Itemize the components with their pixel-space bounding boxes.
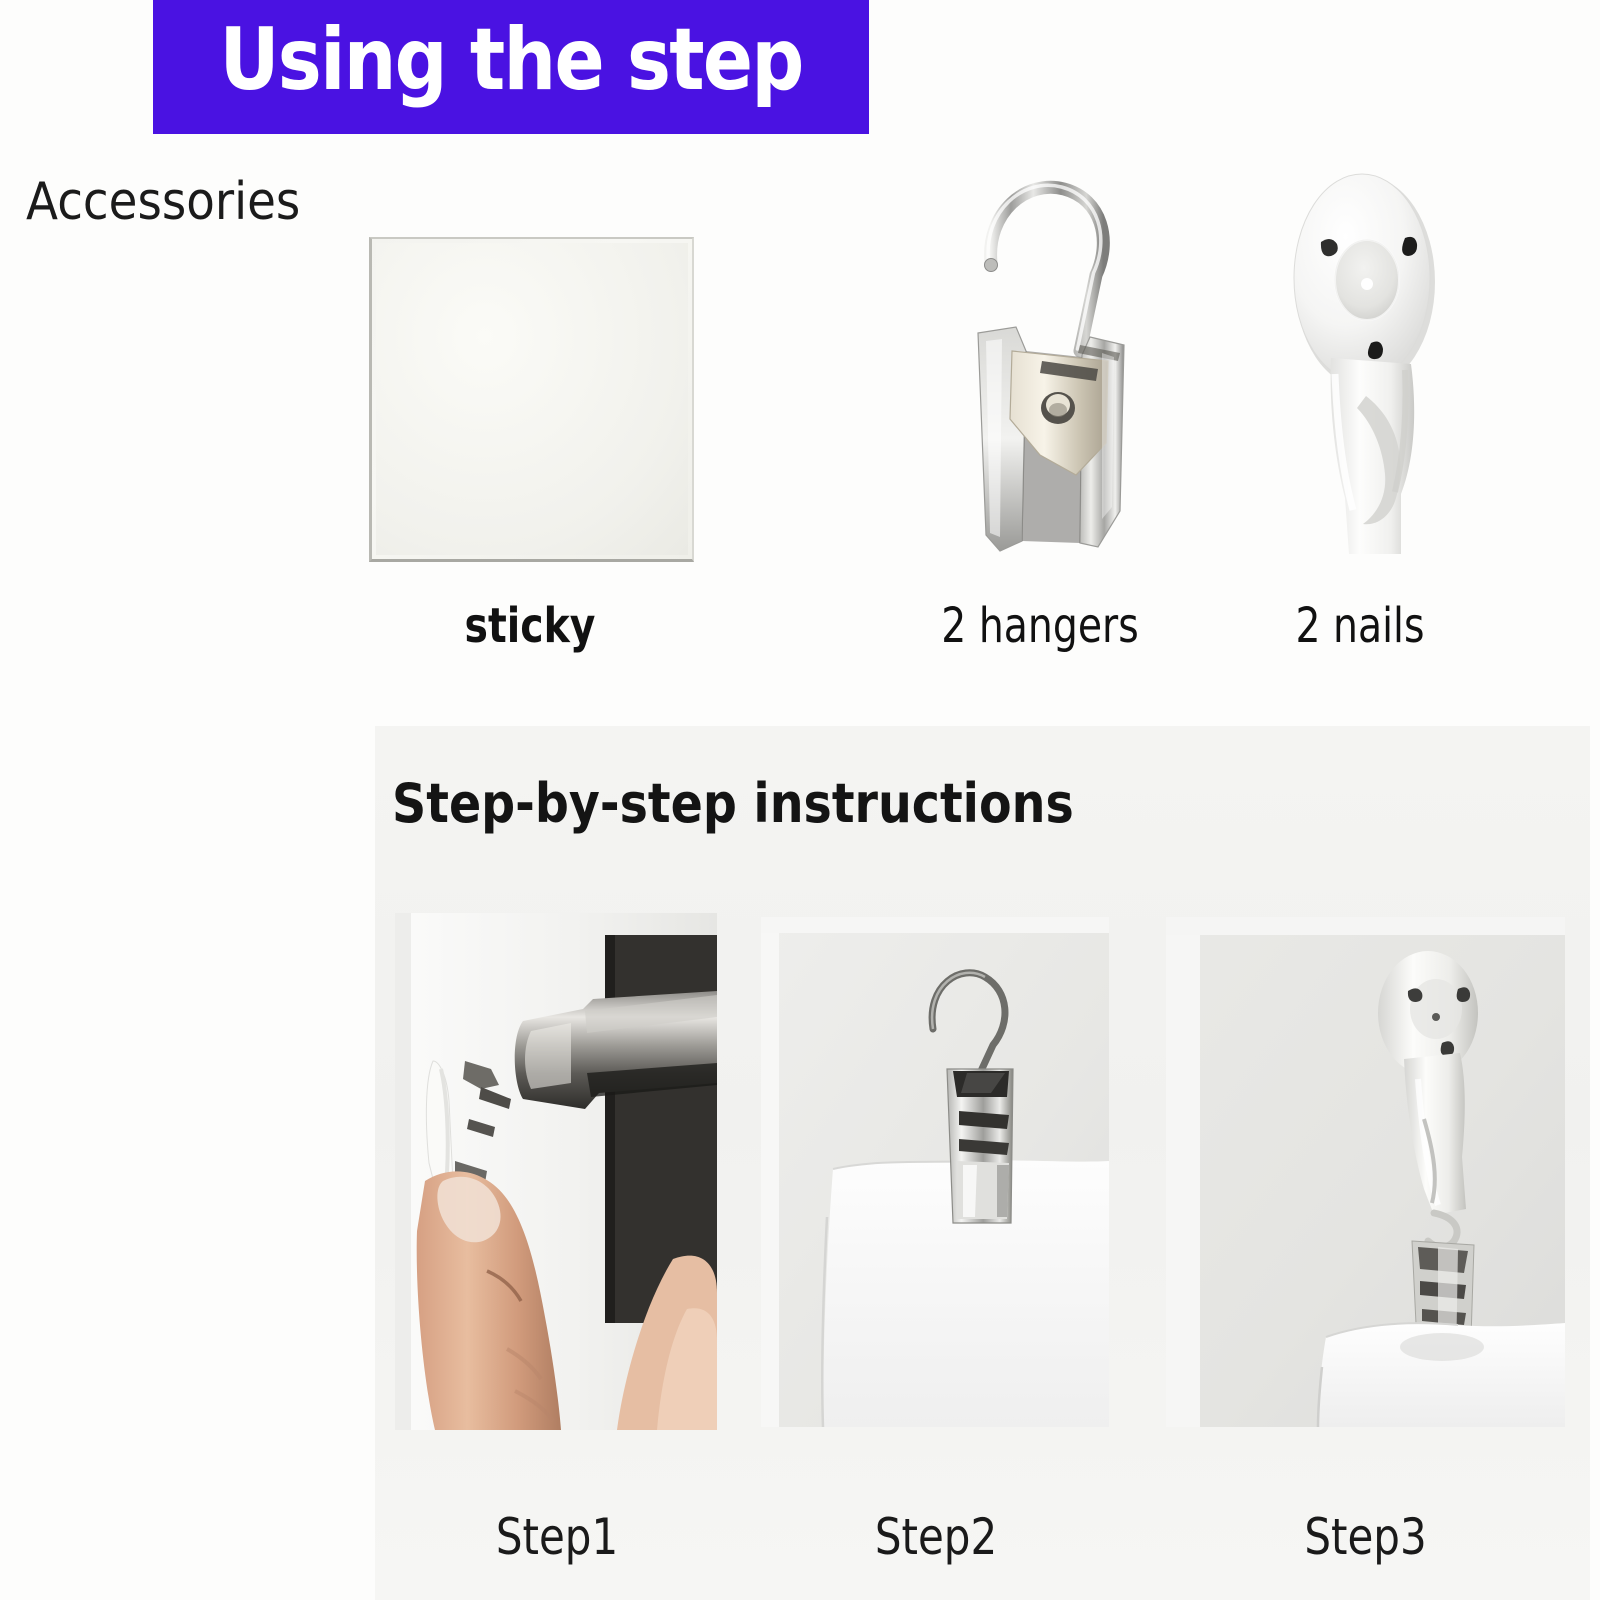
step-image-1	[395, 913, 717, 1430]
accessory-label-sticky: sticky	[399, 598, 661, 654]
accessory-label-hangers: 2 hangers	[909, 598, 1171, 654]
metal-hook-clip-icon	[930, 155, 1160, 565]
accessories-heading: Accessories	[26, 172, 300, 232]
accessory-label-nails: 2 nails	[1229, 598, 1491, 654]
step-label-1: Step1	[422, 1508, 692, 1566]
step-image-3	[1166, 917, 1565, 1427]
page-title: Using the step	[219, 17, 802, 109]
instructions-heading: Step-by-step instructions	[392, 772, 1074, 835]
adhesive-pad-icon	[369, 237, 694, 562]
step-label-2: Step2	[790, 1508, 1082, 1566]
white-wall-hook-icon	[1265, 158, 1465, 563]
step-image-2	[761, 917, 1109, 1427]
step-label-3: Step3	[1198, 1508, 1533, 1566]
title-banner: Using the step	[155, 0, 867, 132]
